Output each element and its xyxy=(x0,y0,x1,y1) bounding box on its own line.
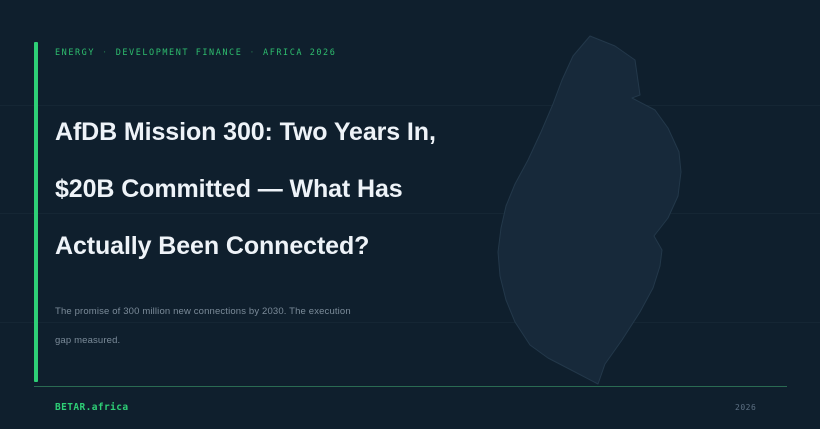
eyebrow-separator-2: · xyxy=(242,48,263,58)
eyebrow-kicker: ENERGY·DEVELOPMENT FINANCE·AFRICA 2026 xyxy=(55,48,336,58)
content-column: ENERGY·DEVELOPMENT FINANCE·AFRICA 2026 A… xyxy=(55,0,755,429)
eyebrow-item-1: ENERGY xyxy=(55,48,95,58)
footer-year: 2026 xyxy=(735,403,756,412)
slide-canvas: ENERGY·DEVELOPMENT FINANCE·AFRICA 2026 A… xyxy=(0,0,820,429)
eyebrow-separator-1: · xyxy=(95,48,116,58)
footer-divider xyxy=(34,386,787,387)
eyebrow-item-2: DEVELOPMENT FINANCE xyxy=(116,48,243,58)
page-title: AfDB Mission 300: Two Years In, $20B Com… xyxy=(55,104,475,275)
eyebrow-item-3: AFRICA 2026 xyxy=(263,48,336,58)
left-accent-bar xyxy=(34,42,38,382)
footer-brand-logo[interactable]: BETAR.africa xyxy=(55,402,128,413)
page-subtitle: The promise of 300 million new connectio… xyxy=(55,297,355,355)
